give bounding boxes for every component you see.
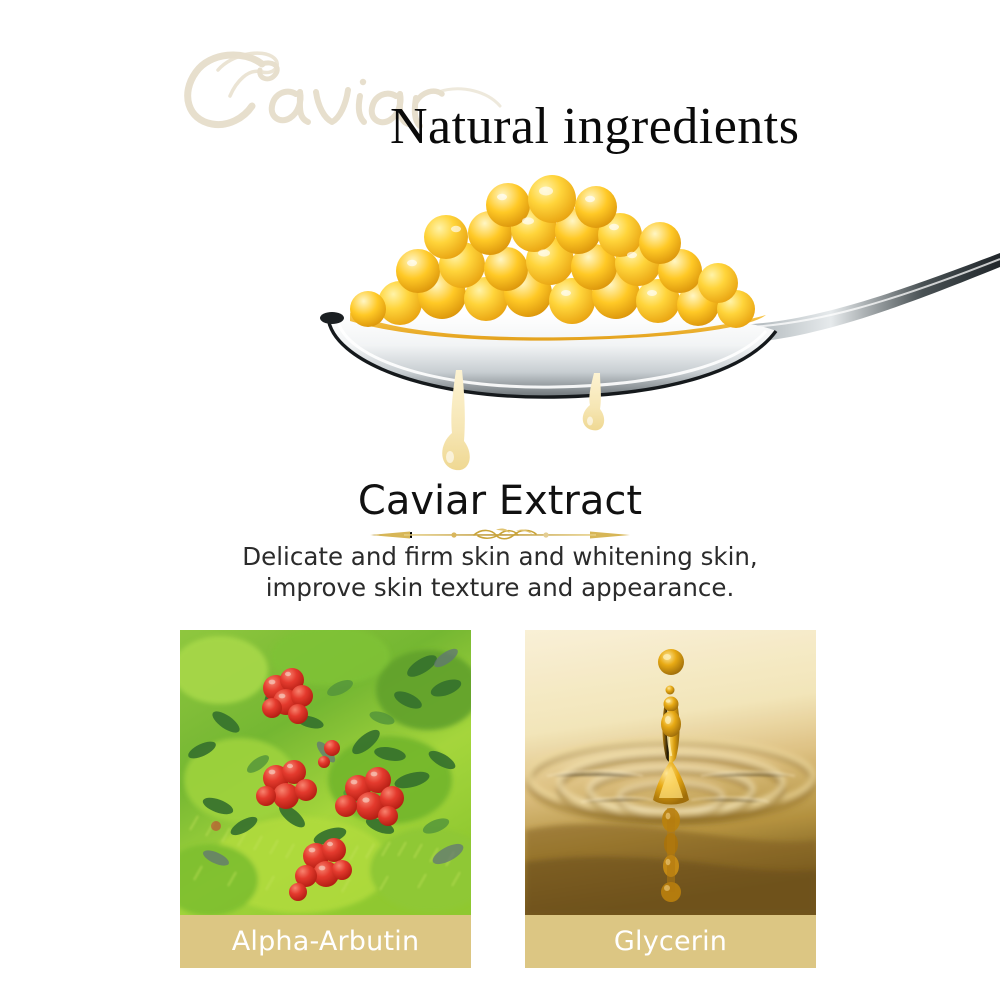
description-line-2: improve skin texture and appearance. — [0, 572, 1000, 603]
section-title: Caviar Extract — [0, 478, 1000, 524]
ingredient-card-alpha-arbutin[interactable]: Alpha-Arbutin — [180, 630, 471, 968]
card-label-glycerin: Glycerin — [525, 915, 816, 968]
description-line-1: Delicate and firm skin and whitening ski… — [0, 541, 1000, 572]
ingredient-card-list: Alpha-Arbutin — [180, 630, 816, 968]
ingredient-card-glycerin[interactable]: Glycerin — [525, 630, 816, 968]
section-description: Delicate and firm skin and whitening ski… — [0, 541, 1000, 604]
ingredient-infographic-page: Natural ingredients — [0, 0, 1000, 1000]
caviar-spoon-image — [150, 175, 1000, 475]
card-label-alpha-arbutin: Alpha-Arbutin — [180, 915, 471, 968]
golden-oil-droplet-photo — [525, 630, 816, 915]
lingonberry-plant-photo — [180, 630, 471, 915]
page-title: Natural ingredients — [390, 100, 840, 155]
